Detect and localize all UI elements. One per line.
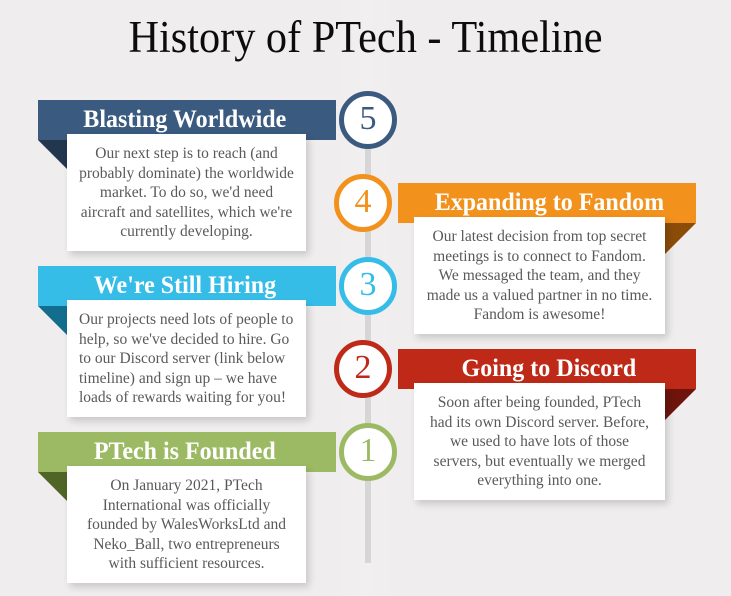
entry-card-2: Soon after being founded, PTech had its … [414,383,665,500]
ribbon-fold-3 [38,306,69,337]
step-number-1: 1 [360,433,377,469]
ribbon-heading-3: We're Still Hiring [94,272,280,300]
timeline-infographic: History of PTech - Timeline Blasting Wor… [0,0,731,596]
entry-card-4: Our latest decision from top secret meet… [414,217,665,334]
ribbon-heading-1: PTech is Founded [94,438,280,466]
ribbon-heading-5: Blasting Worldwide [84,106,291,134]
entry-card-1: On January 2021, PTech International was… [67,466,306,583]
step-number-5: 5 [360,101,377,137]
ribbon-heading-4: Expanding to Fandom [430,189,663,217]
entry-body-2: Soon after being founded, PTech had its … [426,393,653,491]
step-circle-5[interactable]: 5 [339,91,397,149]
entry-card-3: Our projects need lots of people to help… [67,300,306,417]
step-number-3: 3 [360,267,377,303]
entry-body-4: Our latest decision from top secret meet… [426,227,653,325]
step-number-2: 2 [355,350,372,386]
ribbon-fold-4 [665,223,696,254]
ribbon-fold-1 [38,472,69,503]
entry-card-5: Our next step is to reach (and probably … [67,134,306,251]
step-number-4: 4 [355,184,372,220]
ribbon-fold-2 [665,389,696,420]
step-circle-2[interactable]: 2 [334,340,392,398]
page-title: History of PTech - Timeline [22,6,709,68]
ribbon-heading-2: Going to Discord [458,355,637,383]
step-circle-4[interactable]: 4 [334,174,392,232]
step-circle-3[interactable]: 3 [339,257,397,315]
step-circle-1[interactable]: 1 [339,423,397,481]
ribbon-fold-5 [38,140,69,171]
entry-body-3: Our projects need lots of people to help… [79,310,294,408]
entry-body-1: On January 2021, PTech International was… [79,476,294,574]
entry-body-5: Our next step is to reach (and probably … [79,144,294,242]
